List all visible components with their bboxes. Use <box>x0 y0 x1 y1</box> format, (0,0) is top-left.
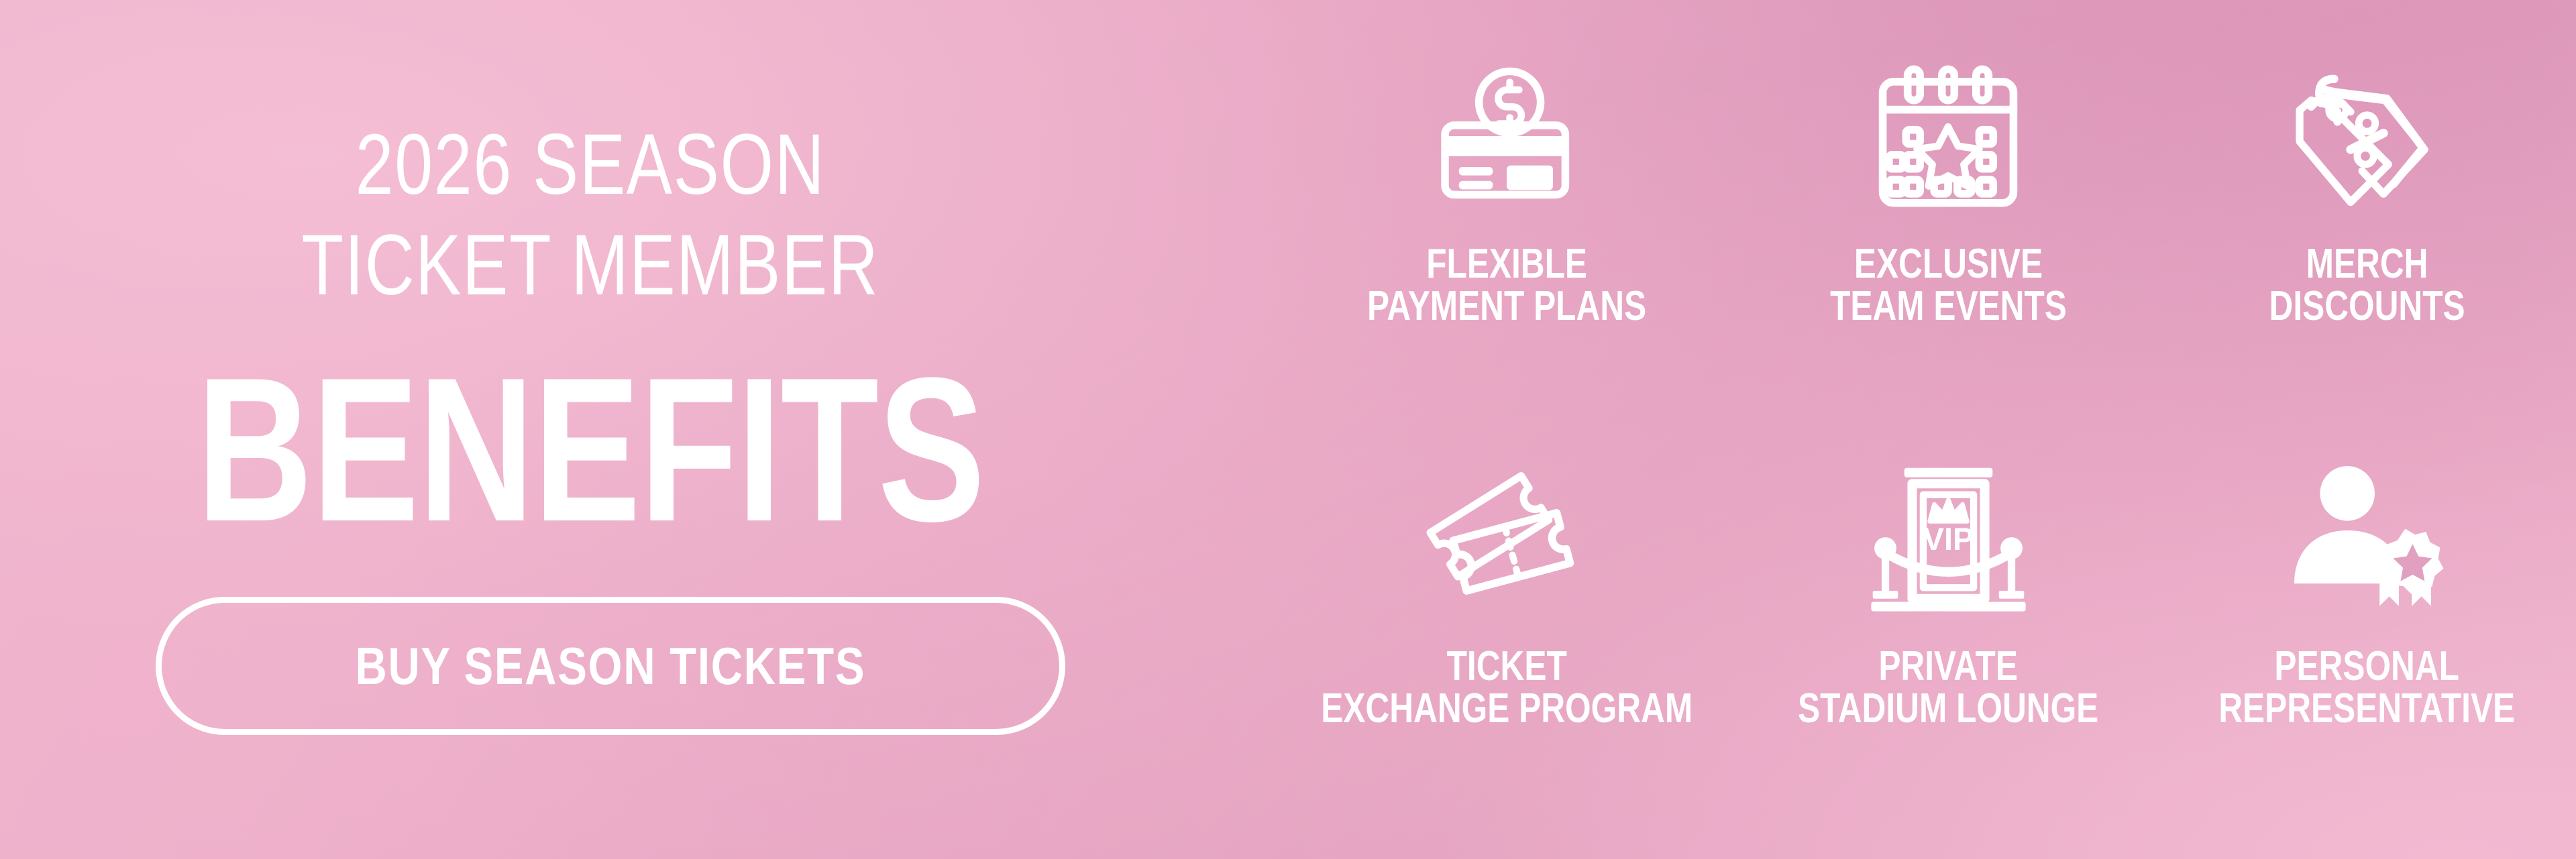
benefit-label-line-2: TEAM EVENTS <box>1830 285 2067 327</box>
two-tickets-icon <box>1426 441 1588 636</box>
price-tags-percent-icon <box>2285 39 2449 233</box>
headline-line-1: 2026 SEASON <box>118 122 1063 208</box>
vip-icon-text: VIP <box>1923 520 1974 556</box>
benefit-merch-discounts[interactable]: MERCH DISCOUNTS <box>2157 27 2576 429</box>
buy-season-tickets-button[interactable]: BUY SEASON TICKETS <box>156 597 1065 735</box>
benefit-label-line-1: TICKET <box>1447 643 1567 689</box>
benefit-label-line-2: STADIUM LOUNGE <box>1798 687 2098 730</box>
headline-block: 2026 SEASON TICKET MEMBER BENEFITS BUY S… <box>0 0 1181 859</box>
benefit-label: FLEXIBLE PAYMENT PLANS <box>1367 243 1646 327</box>
benefit-flexible-payment-plans[interactable]: FLEXIBLE PAYMENT PLANS <box>1275 27 1739 429</box>
benefit-personal-representative[interactable]: PERSONAL REPRESENTATIVE <box>2157 429 2576 832</box>
season-ticket-benefits-banner: 2026 SEASON TICKET MEMBER BENEFITS BUY S… <box>0 0 2576 859</box>
benefit-label: EXCLUSIVE TEAM EVENTS <box>1830 243 2067 327</box>
benefit-exclusive-team-events[interactable]: EXCLUSIVE TEAM EVENTS <box>1739 27 2157 429</box>
benefit-label-line-1: EXCLUSIVE <box>1854 241 2043 287</box>
benefit-private-stadium-lounge[interactable]: VIP PRIVATE STADIUM LOUNGE <box>1739 429 2157 832</box>
benefit-label-line-2: PAYMENT PLANS <box>1367 285 1646 327</box>
benefit-label-line-1: PERSONAL <box>2274 643 2459 689</box>
credit-card-dollar-icon <box>1430 39 1584 233</box>
benefit-label: PRIVATE STADIUM LOUNGE <box>1798 645 2098 730</box>
vip-door-rope-icon: VIP <box>1870 441 2027 636</box>
benefit-label-line-1: FLEXIBLE <box>1426 241 1587 287</box>
benefit-label: TICKET EXCHANGE PROGRAM <box>1321 645 1693 730</box>
benefits-grid: FLEXIBLE PAYMENT PLANS <box>1275 27 2576 832</box>
page-title-benefits: BENEFITS <box>118 347 1063 552</box>
calendar-star-icon <box>1870 39 2026 233</box>
cta-button-label: BUY SEASON TICKETS <box>356 636 866 697</box>
benefit-label: MERCH DISCOUNTS <box>2269 243 2465 327</box>
benefit-label-line-2: DISCOUNTS <box>2269 285 2465 327</box>
benefit-label: PERSONAL REPRESENTATIVE <box>2218 645 2515 730</box>
headline-line-2: TICKET MEMBER <box>118 223 1063 308</box>
benefit-label-line-1: MERCH <box>2306 241 2428 287</box>
benefit-ticket-exchange-program[interactable]: TICKET EXCHANGE PROGRAM <box>1275 429 1739 832</box>
benefit-label-line-1: PRIVATE <box>1878 643 2018 689</box>
person-award-ribbon-icon <box>2286 441 2447 636</box>
benefit-label-line-2: REPRESENTATIVE <box>2218 687 2515 730</box>
benefit-label-line-2: EXCHANGE PROGRAM <box>1321 687 1693 730</box>
